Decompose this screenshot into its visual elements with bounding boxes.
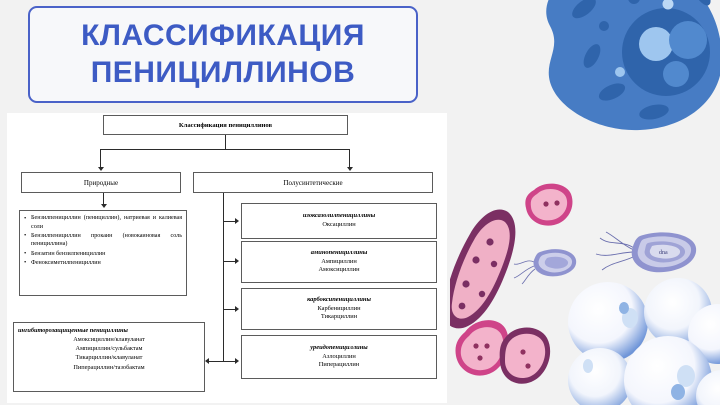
- list-item: Ампициллин/сульбактам: [18, 344, 200, 353]
- arrow-class-2-icon: [235, 258, 239, 264]
- amoeba-cell-icon: [516, 0, 720, 140]
- node-class-amino: аминопенициллины Ампициллин Амоксициллин: [241, 241, 437, 283]
- list-item: Бензилпенициллин прокаин (новокаиновая с…: [24, 232, 182, 249]
- class-heading: изоксазолилпенициллины: [303, 212, 375, 221]
- page-title-line-1: КЛАССИФИКАЦИЯ: [81, 18, 365, 55]
- natural-penicillins-list: Бензилпенициллин (пенициллин), натриевая…: [24, 214, 182, 267]
- list-item: Бензатин бензилпенициллин: [24, 250, 182, 259]
- small-bacterium-icon: [512, 244, 584, 286]
- list-item: Амоксициллин: [318, 266, 359, 275]
- class-heading: аминопенициллины: [311, 249, 368, 258]
- list-item: Пиперациллин: [319, 361, 359, 370]
- pink-cell-pair-icon: [455, 316, 555, 390]
- list-item: Азлоциллин: [322, 353, 356, 362]
- node-class-ureido: уреидопенициллины Азлоциллин Пиперацилли…: [241, 335, 437, 379]
- list-item: Оксациллин: [322, 221, 355, 230]
- arrow-natural-list-icon: [101, 204, 107, 208]
- arrow-natural-icon: [98, 167, 104, 171]
- class-heading: карбоксипенициллины: [307, 296, 371, 305]
- arrow-inhibitor-icon: [205, 358, 209, 364]
- rod-bacteria-icon: [450, 206, 540, 332]
- node-semisynthetic: Полусинтетические: [193, 172, 433, 193]
- node-class-carboxy: карбоксипенициллины Карбенициллин Тикарц…: [241, 288, 437, 330]
- connector-to-semisynthetic: [349, 149, 350, 169]
- list-item: Карбенициллин: [317, 305, 360, 314]
- connector-to-natural: [100, 149, 101, 169]
- class-heading: уреидопенициллины: [310, 344, 367, 353]
- node-root-label: Классификация пенициллинов: [179, 122, 272, 129]
- node-inhibitor-protected: ингибиторозащищенные пенициллины Амоксиц…: [13, 322, 205, 392]
- pink-cell-icon: [522, 180, 576, 228]
- arrow-semisynthetic-icon: [347, 167, 353, 171]
- node-natural-label: Природные: [84, 179, 118, 187]
- page-title: КЛАССИФИКАЦИЯ ПЕНИЦИЛЛИНОВ: [28, 6, 418, 103]
- svg-text:dna: dna: [659, 250, 668, 256]
- node-natural: Природные: [21, 172, 181, 193]
- list-item: Амоксициллин/клавуланат: [18, 335, 200, 344]
- node-semisynthetic-label: Полусинтетические: [283, 179, 342, 187]
- list-item: Пиперациллин/тазобактам: [18, 363, 200, 372]
- node-class-isoxazolyl: изоксазолилпенициллины Оксациллин: [241, 203, 437, 239]
- list-item: Ампициллин: [321, 258, 357, 267]
- arrow-class-1-icon: [235, 218, 239, 224]
- connector-branch-4: [207, 361, 237, 362]
- arrow-class-4-icon: [235, 358, 239, 364]
- flagellated-bacterium-icon: dna: [590, 228, 700, 280]
- list-item: Бензилпенициллин (пенициллин), натриевая…: [24, 214, 182, 231]
- list-item: Феноксиметилпенициллин: [24, 259, 182, 268]
- bubble-cells-icon: [562, 276, 720, 405]
- page-title-line-2: ПЕНИЦИЛЛИНОВ: [91, 55, 356, 92]
- node-natural-penicillins: Бензилпенициллин (пенициллин), натриевая…: [19, 210, 187, 296]
- classification-diagram: Классификация пенициллинов Природные Пол…: [7, 113, 447, 403]
- connector-root-down: [225, 135, 226, 149]
- inhibitor-protected-heading: ингибиторозащищенные пенициллины: [18, 326, 200, 335]
- list-item: Тикарциллин/клавуланат: [18, 353, 200, 362]
- list-item: Тикарциллин: [321, 313, 357, 322]
- arrow-class-3-icon: [235, 306, 239, 312]
- connector-semisynthetic-trunk: [223, 193, 224, 361]
- connector-root-split: [100, 149, 349, 150]
- node-root: Классификация пенициллинов: [103, 115, 348, 135]
